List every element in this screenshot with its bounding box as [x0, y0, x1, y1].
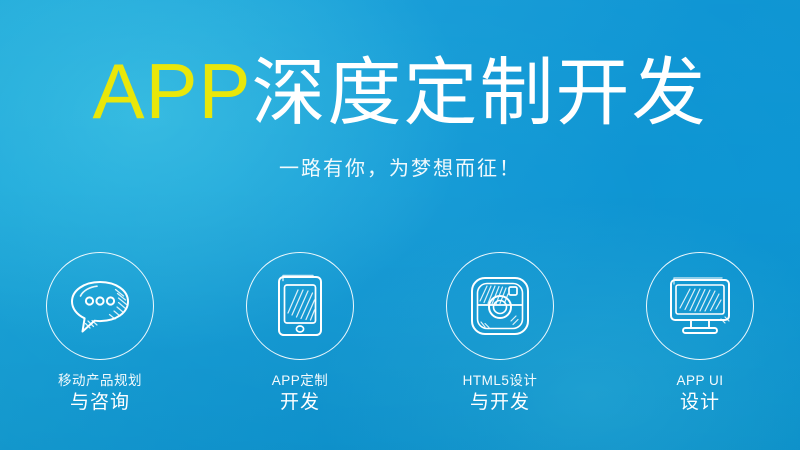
feature-label-top: 移动产品规划 — [58, 372, 142, 390]
feature-icon-circle — [646, 252, 754, 360]
headline-cn-word: 深度定制开发 — [252, 51, 708, 134]
feature-label-bottom: 与咨询 — [58, 391, 142, 416]
camera-icon — [468, 274, 532, 338]
desktop-monitor-icon — [665, 275, 735, 337]
feature-label-bottom: 与开发 — [463, 391, 538, 416]
feature-item-app-ui[interactable]: APP UI 设计 — [600, 252, 800, 416]
feature-item-planning[interactable]: 移动产品规划 与咨询 — [0, 252, 200, 416]
feature-label-top: APP定制 — [272, 372, 329, 390]
feature-icon-circle — [446, 252, 554, 360]
feature-icon-circle — [46, 252, 154, 360]
page-title: APP深度定制开发 — [0, 52, 800, 130]
feature-label-bottom: 开发 — [272, 391, 329, 416]
feature-item-html5[interactable]: HTML5设计 与开发 — [400, 252, 600, 416]
smartphone-icon — [272, 273, 328, 339]
feature-labels: HTML5设计 与开发 — [463, 372, 538, 416]
feature-label-bottom: 设计 — [676, 391, 723, 416]
feature-icon-circle — [246, 252, 354, 360]
feature-list: 移动产品规划 与咨询 — [0, 252, 800, 416]
feature-labels: APP定制 开发 — [272, 372, 329, 416]
speech-bubble-icon — [67, 276, 133, 336]
feature-item-app-development[interactable]: APP定制 开发 — [200, 252, 400, 416]
feature-label-top: APP UI — [676, 372, 723, 390]
promo-banner: APP深度定制开发 一路有你，为梦想而征！ — [0, 0, 800, 450]
headline-app-word: APP — [92, 47, 251, 135]
feature-labels: 移动产品规划 与咨询 — [58, 372, 142, 416]
feature-labels: APP UI 设计 — [676, 372, 723, 416]
page-subtitle: 一路有你，为梦想而征！ — [0, 152, 800, 181]
feature-label-top: HTML5设计 — [463, 372, 538, 390]
